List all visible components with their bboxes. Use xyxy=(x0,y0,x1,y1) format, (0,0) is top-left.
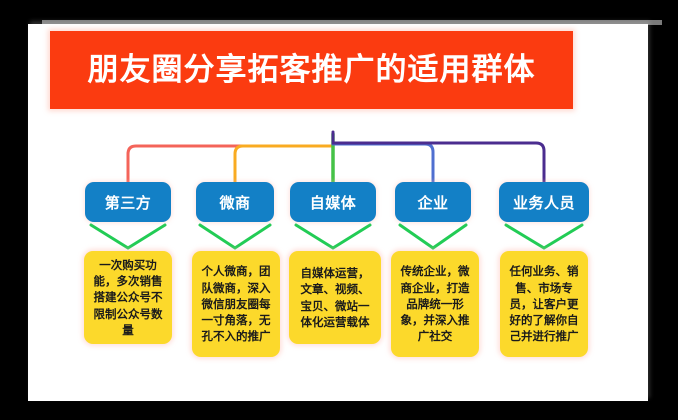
connector-line-4 xyxy=(333,144,433,182)
connector-line-2 xyxy=(235,146,333,182)
category-box-self-media[interactable]: 自媒体 xyxy=(290,182,376,222)
category-label: 第三方 xyxy=(105,192,152,213)
description-box-third-party: 一次购买功能，多次销售搭建公众号不限制公众号数量 xyxy=(84,251,172,344)
arrow-chevron-1 xyxy=(91,225,165,248)
arrow-chevron-5 xyxy=(506,225,582,248)
category-label: 业务人员 xyxy=(513,192,575,213)
description-box-micro-business: 个人微商，团队微商，深入微信朋友圈每一寸角落，无孔不入的推广 xyxy=(192,251,280,357)
arrow-chevron-2 xyxy=(200,225,270,248)
description-box-sales-staff: 任何业务、销售、市场专员，让客户更好的了解你自己并进行推广 xyxy=(500,251,588,357)
arrow-chevron-4 xyxy=(400,225,466,248)
connector-line-1 xyxy=(128,146,333,182)
description-text: 传统企业，微商企业，打造品牌统一形象，并深入推广社交 xyxy=(397,263,473,345)
description-text: 自媒体运营，文章、视频、宝贝、微站一体化运营载体 xyxy=(295,265,375,330)
title-banner: 朋友圈分享拓客推广的适用群体 xyxy=(50,31,573,109)
description-text: 个人微商，团队微商，深入微信朋友圈每一寸角落，无孔不入的推广 xyxy=(198,263,274,345)
description-text: 任何业务、销售、市场专员，让客户更好的了解你自己并进行推广 xyxy=(506,263,582,345)
category-label: 企业 xyxy=(417,192,448,213)
arrow-chevron-3 xyxy=(296,225,370,248)
category-box-sales-staff[interactable]: 业务人员 xyxy=(499,182,589,222)
page-title: 朋友圈分享拓客推广的适用群体 xyxy=(88,55,536,86)
category-box-enterprise[interactable]: 企业 xyxy=(395,182,471,222)
category-label: 自媒体 xyxy=(310,192,357,213)
description-text: 一次购买功能，多次销售搭建公众号不限制公众号数量 xyxy=(90,257,166,339)
description-box-self-media: 自媒体运营，文章、视频、宝贝、微站一体化运营载体 xyxy=(289,251,381,344)
description-box-enterprise: 传统企业，微商企业，打造品牌统一形象，并深入推广社交 xyxy=(391,251,479,357)
connector-line-5 xyxy=(333,132,544,182)
slide-canvas: 第三方 微商 自媒体 企业 业务人员 一次购买功能，多次销售搭建公众号不限制公众… xyxy=(0,0,678,420)
category-box-micro-business[interactable]: 微商 xyxy=(196,182,274,222)
category-box-third-party[interactable]: 第三方 xyxy=(85,182,171,222)
category-label: 微商 xyxy=(219,192,250,213)
